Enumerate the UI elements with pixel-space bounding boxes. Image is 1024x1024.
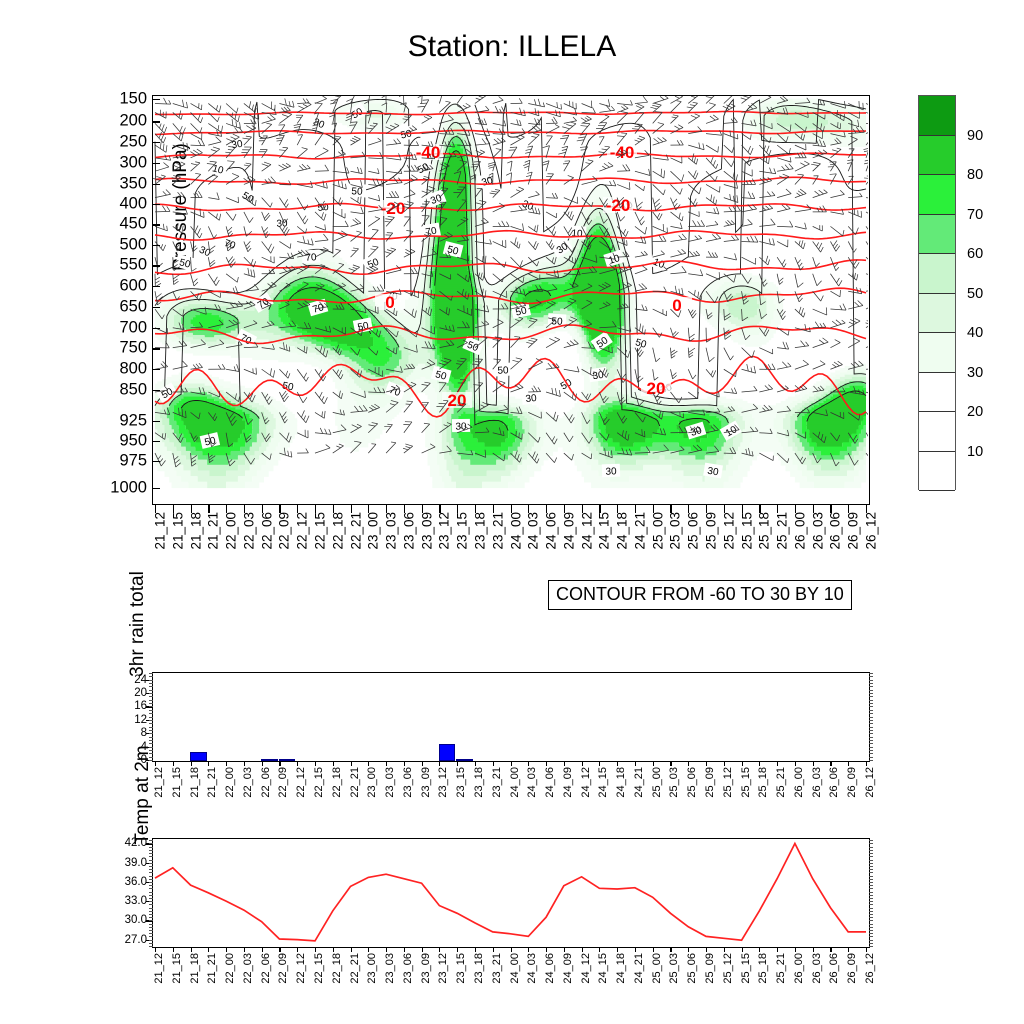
temp-x-tick-label: 25_00 xyxy=(651,953,663,984)
temp-x-tick-mark xyxy=(599,947,600,952)
temp-x-tick-mark xyxy=(422,947,423,952)
rain-x-tick-mark xyxy=(511,761,512,766)
temp-y-minor-tick-right xyxy=(869,940,873,941)
rain-x-tick-mark xyxy=(262,761,263,766)
temp-y-minor-tick xyxy=(149,930,153,931)
colorbar-tick-label: 70 xyxy=(967,207,983,223)
main-y-tick-label: 800 xyxy=(119,360,147,379)
main-y-tick-label: 400 xyxy=(119,194,147,213)
temp-x-tick-label: 24_15 xyxy=(597,953,609,984)
rain-x-tick-mark xyxy=(208,761,209,766)
main-x-tick-label: 22_09 xyxy=(277,512,292,550)
rain-y-minor-tick-right xyxy=(869,747,873,748)
rain-x-tick-mark xyxy=(848,761,849,766)
main-y-tick-label: 300 xyxy=(119,153,147,172)
main-y-tick-label: 925 xyxy=(119,411,147,430)
main-x-tick-label: 23_21 xyxy=(490,512,505,550)
rain-x-tick-label: 25_09 xyxy=(704,767,716,798)
rain-x-tick-mark xyxy=(813,761,814,766)
cross-section-canvas: 3030505030105050303030305070705050301010… xyxy=(153,96,868,503)
rain-y-minor-tick-right xyxy=(869,703,873,704)
rain-x-tick-label: 26_00 xyxy=(793,767,805,798)
svg-text:50: 50 xyxy=(351,186,363,198)
rain-x-tick-label: 23_06 xyxy=(402,767,414,798)
temp-x-tick-mark xyxy=(475,947,476,952)
rain-y-minor-tick-right xyxy=(869,673,873,674)
main-y-tick-mark xyxy=(153,204,160,205)
main-y-tick-mark xyxy=(153,265,160,266)
rain-x-tick-mark xyxy=(422,761,423,766)
temp-y-minor-tick xyxy=(149,863,153,864)
temp-y-minor-tick xyxy=(149,888,153,889)
rain-y-minor-tick-right xyxy=(869,727,873,728)
rain-y-minor-tick-right xyxy=(869,690,873,691)
temp-x-tick-mark xyxy=(439,947,440,952)
main-x-tick-label: 23_00 xyxy=(366,512,381,550)
rain-y-minor-tick-right xyxy=(869,740,873,741)
temp-x-tick-mark xyxy=(333,947,334,952)
temp-y-tick-label: 30.0 xyxy=(125,914,147,926)
temp-y-minor-tick xyxy=(149,843,153,844)
colorbar-swatch xyxy=(919,452,955,492)
rain-x-tick-label: 24_18 xyxy=(615,767,627,798)
main-y-tick-mark xyxy=(153,461,160,462)
temp-y-minor-tick-right xyxy=(869,840,873,841)
temp-y-minor-tick xyxy=(149,885,153,886)
temp-y-minor-tick xyxy=(149,856,153,857)
temp-x-tick-mark xyxy=(457,947,458,952)
main-y-tick-label: 200 xyxy=(119,112,147,131)
temp-x-tick-label: 23_15 xyxy=(455,953,467,984)
colorbar-tick-label: 90 xyxy=(967,128,983,144)
temp-y-minor-tick xyxy=(149,840,153,841)
temp-x-tick-mark xyxy=(582,947,583,952)
temp-x-tick-label: 25_03 xyxy=(668,953,680,984)
main-y-tick-mark xyxy=(153,441,160,442)
temp-y-minor-tick-right xyxy=(869,860,873,861)
rain-x-tick-label: 24_09 xyxy=(562,767,574,798)
temp-x-tick-mark xyxy=(546,947,547,952)
rain-y-minor-tick-right xyxy=(869,683,873,684)
temp-y-minor-tick xyxy=(149,917,153,918)
temp-x-tick-label: 22_12 xyxy=(295,953,307,984)
main-x-tick-label: 25_15 xyxy=(739,512,754,550)
rain-bar xyxy=(279,759,296,761)
temp-x-tick-mark xyxy=(670,947,671,952)
colorbar-swatch xyxy=(919,175,955,215)
rain-bar xyxy=(261,759,278,761)
rain-x-tick-mark xyxy=(688,761,689,766)
temp-y-minor-tick-right xyxy=(869,869,873,870)
rain-x-tick-mark xyxy=(777,761,778,766)
temp-x-tick-label: 26_06 xyxy=(828,953,840,984)
rain-x-tick-mark xyxy=(564,761,565,766)
rain-x-tick-label: 22_18 xyxy=(331,767,343,798)
rain-x-tick-mark xyxy=(617,761,618,766)
rain-y-minor-tick-right xyxy=(869,743,873,744)
colorbar-tick-label: 50 xyxy=(967,286,983,302)
main-x-tick-label: 23_03 xyxy=(384,512,399,550)
temp-x-tick-label: 23_21 xyxy=(491,953,503,984)
rain-x-tick-mark xyxy=(155,761,156,766)
temp-y-minor-tick-right xyxy=(869,924,873,925)
temperature-plot: Temp at 2m 27.030.033.036.039.042.021_12… xyxy=(152,838,870,948)
main-x-tick-label: 24_12 xyxy=(579,512,594,550)
temp-y-tick-label: 36.0 xyxy=(125,876,147,888)
colorbar-swatch xyxy=(919,215,955,255)
main-x-tick-label: 25_18 xyxy=(757,512,772,550)
temp-y-minor-tick xyxy=(149,914,153,915)
temp-x-tick-label: 24_12 xyxy=(580,953,592,984)
temp-y-minor-tick xyxy=(149,892,153,893)
main-y-tick-mark xyxy=(153,488,160,489)
temp-x-tick-mark xyxy=(226,947,227,952)
rain-x-tick-mark xyxy=(191,761,192,766)
temp-y-minor-tick-right xyxy=(869,882,873,883)
rain-x-tick-label: 24_12 xyxy=(580,767,592,798)
temp-x-tick-label: 26_03 xyxy=(811,953,823,984)
rain-y-minor-tick-right xyxy=(869,680,873,681)
rain-y-minor-tick-right xyxy=(869,760,873,761)
rain-x-tick-mark xyxy=(386,761,387,766)
main-x-tick-label: 24_00 xyxy=(508,512,523,550)
rain-x-tick-mark xyxy=(368,761,369,766)
rain-x-tick-label: 21_18 xyxy=(189,767,201,798)
main-y-tick-mark xyxy=(153,121,160,122)
main-x-tick-label: 23_18 xyxy=(472,512,487,550)
temp-y-minor-tick-right xyxy=(869,911,873,912)
temp-y-minor-tick xyxy=(149,872,153,873)
temp-y-minor-tick xyxy=(149,882,153,883)
temp-x-tick-mark xyxy=(528,947,529,952)
rain-x-tick-label: 23_21 xyxy=(491,767,503,798)
rain-x-tick-mark xyxy=(457,761,458,766)
rain-y-minor-tick-right xyxy=(869,720,873,721)
temp-x-tick-label: 23_09 xyxy=(420,953,432,984)
temp-y-minor-tick xyxy=(149,860,153,861)
temp-x-tick-mark xyxy=(688,947,689,952)
main-y-tick-mark xyxy=(153,286,160,287)
temp-x-tick-mark xyxy=(155,947,156,952)
main-y-tick-mark xyxy=(153,307,160,308)
temp-x-tick-mark xyxy=(315,947,316,952)
temp-x-tick-mark xyxy=(742,947,743,952)
temp-y-minor-tick xyxy=(149,853,153,854)
temp-x-tick-label: 22_00 xyxy=(224,953,236,984)
temp-y-tick-label: 39.0 xyxy=(125,857,147,869)
rain-x-tick-mark xyxy=(528,761,529,766)
main-y-tick-label: 350 xyxy=(119,174,147,193)
rain-x-tick-label: 23_18 xyxy=(473,767,485,798)
temp-y-minor-tick-right xyxy=(869,885,873,886)
temp-x-tick-mark xyxy=(244,947,245,952)
rain-x-tick-mark xyxy=(742,761,743,766)
rain-x-tick-label: 26_12 xyxy=(864,767,876,798)
temp-x-tick-label: 22_18 xyxy=(331,953,343,984)
temp-x-tick-mark xyxy=(653,947,654,952)
temp-y-minor-tick-right xyxy=(869,914,873,915)
colorbar-swatch xyxy=(919,254,955,294)
main-x-tick-label: 25_03 xyxy=(668,512,683,550)
main-y-tick-mark xyxy=(153,163,160,164)
temp-x-tick-label: 25_15 xyxy=(740,953,752,984)
rain-x-tick-label: 24_15 xyxy=(597,767,609,798)
rain-x-tick-mark xyxy=(404,761,405,766)
main-x-tick-label: 26_12 xyxy=(864,512,879,550)
temp-x-tick-label: 24_09 xyxy=(562,953,574,984)
main-x-tick-label: 21_12 xyxy=(153,512,168,550)
main-x-tick-label: 25_21 xyxy=(775,512,790,550)
main-y-tick-label: 150 xyxy=(119,90,147,109)
colorbar-swatch xyxy=(919,96,955,136)
svg-text:30: 30 xyxy=(605,466,617,477)
rain-x-tick-mark xyxy=(866,761,867,766)
colorbar-swatch xyxy=(919,136,955,176)
main-y-tick-mark xyxy=(153,245,160,246)
rain-x-tick-mark xyxy=(830,761,831,766)
main-x-tick-label: 24_09 xyxy=(561,512,576,550)
rain-x-tick-label: 22_06 xyxy=(260,767,272,798)
rain-y-minor-tick-right xyxy=(869,696,873,697)
temp-y-minor-tick-right xyxy=(869,901,873,902)
main-x-tick-label: 25_12 xyxy=(721,512,736,550)
main-x-tick-label: 26_03 xyxy=(810,512,825,550)
temp-x-tick-label: 25_18 xyxy=(757,953,769,984)
temp-y-minor-tick xyxy=(149,901,153,902)
rain-x-tick-label: 24_03 xyxy=(526,767,538,798)
temp-x-tick-mark xyxy=(191,947,192,952)
main-y-tick-label: 700 xyxy=(119,318,147,337)
main-x-tick-label: 22_21 xyxy=(348,512,363,550)
rain-x-tick-label: 25_03 xyxy=(668,767,680,798)
temperature-line-canvas xyxy=(153,839,868,946)
colorbar-tick-label: 30 xyxy=(967,365,983,381)
colorbar-swatch xyxy=(919,412,955,452)
page-title: Station: ILLELA xyxy=(0,30,1024,64)
rain-x-tick-label: 26_09 xyxy=(846,767,858,798)
main-y-tick-label: 950 xyxy=(119,431,147,450)
rain-y-minor-tick-right xyxy=(869,706,873,707)
temp-x-tick-label: 23_03 xyxy=(384,953,396,984)
temp-x-tick-mark xyxy=(511,947,512,952)
temp-x-tick-mark xyxy=(386,947,387,952)
temp-y-minor-tick xyxy=(149,920,153,921)
rain-x-tick-mark xyxy=(439,761,440,766)
temp-y-minor-tick xyxy=(149,946,153,947)
main-x-tick-label: 26_06 xyxy=(828,512,843,550)
temp-x-tick-label: 23_00 xyxy=(366,953,378,984)
rain-y-minor-tick-right xyxy=(869,717,873,718)
rain-x-tick-label: 23_15 xyxy=(455,767,467,798)
rain-x-tick-mark xyxy=(333,761,334,766)
temp-y-minor-tick-right xyxy=(869,879,873,880)
contour-range-note: CONTOUR FROM -60 TO 30 BY 10 xyxy=(548,580,852,610)
rain-x-tick-label: 21_15 xyxy=(171,767,183,798)
svg-text:70: 70 xyxy=(305,252,317,264)
colorbar-swatch xyxy=(919,294,955,334)
temp-x-tick-mark xyxy=(617,947,618,952)
temp-y-minor-tick-right xyxy=(869,917,873,918)
rain-x-tick-label: 23_00 xyxy=(366,767,378,798)
temp-x-tick-mark xyxy=(830,947,831,952)
rain-x-tick-mark xyxy=(670,761,671,766)
main-x-tick-label: 24_06 xyxy=(544,512,559,550)
temp-y-minor-tick-right xyxy=(869,856,873,857)
colorbar-tick-label: 60 xyxy=(967,246,983,262)
temp-y-minor-tick-right xyxy=(869,876,873,877)
main-x-tick-label: 23_06 xyxy=(401,512,416,550)
temp-y-minor-tick xyxy=(149,876,153,877)
main-x-tick-label: 21_21 xyxy=(206,512,221,550)
rain-x-tick-mark xyxy=(493,761,494,766)
temp-x-tick-mark xyxy=(564,947,565,952)
temp-y-minor-tick xyxy=(149,850,153,851)
colorbar-tick-label: 10 xyxy=(967,444,983,460)
main-y-tick-label: 975 xyxy=(119,452,147,471)
cross-section-plot: Pressure (hPa) 3030505030105050303030305… xyxy=(152,95,870,505)
main-x-tick-label: 25_06 xyxy=(686,512,701,550)
rain-x-tick-label: 25_00 xyxy=(651,767,663,798)
main-x-tick-label: 22_15 xyxy=(312,512,327,550)
temp-y-minor-tick xyxy=(149,927,153,928)
temp-x-tick-mark xyxy=(795,947,796,952)
main-x-tick-label: 24_03 xyxy=(526,512,541,550)
temp-x-tick-label: 26_09 xyxy=(846,953,858,984)
rain-x-tick-label: 25_06 xyxy=(686,767,698,798)
svg-text:50: 50 xyxy=(497,365,509,377)
main-y-tick-label: 250 xyxy=(119,132,147,151)
main-y-tick-mark xyxy=(153,184,160,185)
temp-x-tick-mark xyxy=(493,947,494,952)
rain-x-tick-mark xyxy=(759,761,760,766)
main-x-tick-label: 22_12 xyxy=(295,512,310,550)
main-y-tick-label: 450 xyxy=(119,215,147,234)
rain-x-tick-label: 25_15 xyxy=(740,767,752,798)
main-x-tick-label: 21_15 xyxy=(170,512,185,550)
rain-y-minor-tick-right xyxy=(869,723,873,724)
colorbar-tick-label: 80 xyxy=(967,167,983,183)
temp-y-minor-tick-right xyxy=(869,863,873,864)
rain-x-tick-label: 25_21 xyxy=(775,767,787,798)
rain-x-tick-mark xyxy=(706,761,707,766)
temp-y-minor-tick xyxy=(149,908,153,909)
main-x-tick-label: 22_03 xyxy=(241,512,256,550)
rain-x-tick-label: 26_03 xyxy=(811,767,823,798)
temp-y-minor-tick xyxy=(149,847,153,848)
main-y-tick-mark xyxy=(153,421,160,422)
colorbar-tick-label: 40 xyxy=(967,325,983,341)
rain-x-tick-mark xyxy=(635,761,636,766)
main-y-tick-label: 650 xyxy=(119,297,147,316)
rain-x-tick-label: 22_21 xyxy=(349,767,361,798)
temp-x-tick-label: 25_09 xyxy=(704,953,716,984)
temp-x-tick-mark xyxy=(262,947,263,952)
temp-x-tick-label: 24_06 xyxy=(544,953,556,984)
humidity-contour-layer xyxy=(155,99,866,430)
temp-x-tick-mark xyxy=(724,947,725,952)
rain-y-minor-tick-right xyxy=(869,733,873,734)
rain-y-minor-tick-right xyxy=(869,737,873,738)
main-x-tick-label: 24_15 xyxy=(597,512,612,550)
humidity-colorbar: 908070605040302010 xyxy=(918,95,956,490)
temp-x-tick-mark xyxy=(368,947,369,952)
svg-text:30: 30 xyxy=(231,139,244,152)
temp-x-tick-mark xyxy=(759,947,760,952)
temp-y-tick-label: 42.0 xyxy=(125,837,147,849)
rain-x-tick-mark xyxy=(226,761,227,766)
rain-y-minor-tick-right xyxy=(869,730,873,731)
main-y-tick-label: 850 xyxy=(119,381,147,400)
temp-x-tick-label: 22_03 xyxy=(242,953,254,984)
temp-y-minor-tick xyxy=(149,866,153,867)
main-y-tick-mark xyxy=(153,99,160,100)
temp-y-minor-tick-right xyxy=(869,853,873,854)
temp-x-tick-label: 22_15 xyxy=(313,953,325,984)
temp-x-tick-mark xyxy=(866,947,867,952)
main-x-tick-label: 23_12 xyxy=(437,512,452,550)
rain-x-tick-mark xyxy=(599,761,600,766)
rain-x-tick-label: 24_00 xyxy=(509,767,521,798)
temp-x-tick-mark xyxy=(297,947,298,952)
rain-x-tick-label: 22_00 xyxy=(224,767,236,798)
rain-x-tick-mark xyxy=(279,761,280,766)
chart-page: Station: ILLELA Pressure (hPa) 303050503… xyxy=(0,0,1024,1024)
temp-y-minor-tick xyxy=(149,869,153,870)
rain-y-minor-tick-right xyxy=(869,686,873,687)
temp-y-minor-tick xyxy=(149,940,153,941)
rain-y-minor-tick-right xyxy=(869,757,873,758)
temp-y-minor-tick-right xyxy=(869,904,873,905)
temp-x-tick-label: 23_06 xyxy=(402,953,414,984)
main-x-tick-label: 23_09 xyxy=(419,512,434,550)
rain-y-minor-tick-right xyxy=(869,676,873,677)
temp-y-minor-tick-right xyxy=(869,843,873,844)
temp-x-tick-mark xyxy=(635,947,636,952)
temp-x-tick-label: 21_12 xyxy=(153,953,165,984)
rain-x-tick-label: 24_06 xyxy=(544,767,556,798)
colorbar-tick-label: 20 xyxy=(967,404,983,420)
temp-y-minor-tick-right xyxy=(869,888,873,889)
rain-x-tick-label: 22_15 xyxy=(313,767,325,798)
main-x-tick-label: 23_15 xyxy=(455,512,470,550)
main-x-tick-label: 26_09 xyxy=(846,512,861,550)
temp-y-minor-tick-right xyxy=(869,872,873,873)
rain-x-tick-label: 23_12 xyxy=(437,767,449,798)
temp-x-tick-mark xyxy=(813,947,814,952)
temp-x-tick-label: 24_00 xyxy=(509,953,521,984)
main-y-tick-mark xyxy=(153,348,160,349)
rain-plot: 3hr rain total 0481216202421_1221_1521_1… xyxy=(152,672,870,762)
rain-y-minor-tick-right xyxy=(869,750,873,751)
temp-y-minor-tick xyxy=(149,898,153,899)
rain-y-minor-tick-right xyxy=(869,753,873,754)
rain-bar xyxy=(190,752,207,761)
temp-x-tick-label: 23_12 xyxy=(437,953,449,984)
temp-y-minor-tick xyxy=(149,895,153,896)
rain-bar xyxy=(456,759,473,761)
colorbar-swatch xyxy=(919,373,955,413)
main-x-tick-label: 21_18 xyxy=(188,512,203,550)
temp-x-tick-label: 23_18 xyxy=(473,953,485,984)
rain-x-tick-mark xyxy=(244,761,245,766)
main-y-tick-label: 550 xyxy=(119,256,147,275)
temp-y-tick-label: 27.0 xyxy=(125,934,147,946)
temp-x-tick-label: 24_18 xyxy=(615,953,627,984)
main-x-tick-label: 25_00 xyxy=(650,512,665,550)
svg-text:10: 10 xyxy=(571,228,583,240)
main-y-tick-mark xyxy=(153,369,160,370)
temp-x-tick-mark xyxy=(404,947,405,952)
